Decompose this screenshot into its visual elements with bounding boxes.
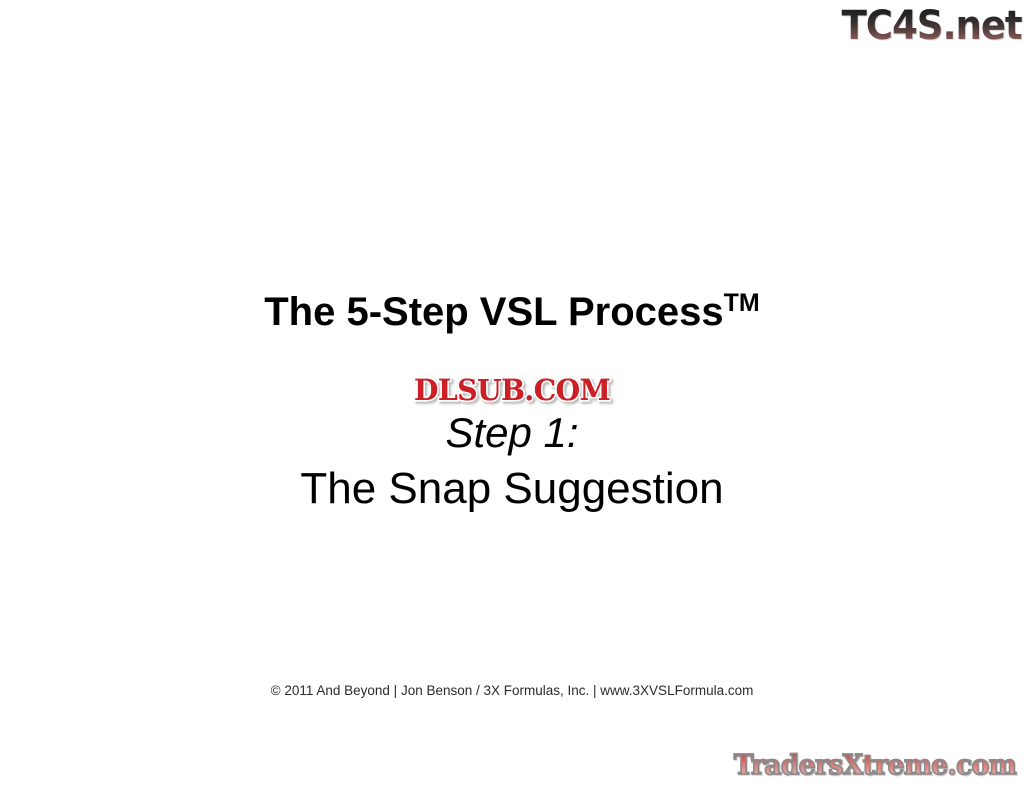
- trademark-symbol: TM: [724, 289, 760, 317]
- page-title-text: The 5-Step VSL Process: [264, 290, 723, 334]
- tradersxtreme-com-watermark: TradersXtreme.com: [706, 748, 1016, 784]
- subtitle-step-label: Step 1:: [0, 408, 1024, 458]
- presentation-slide: TC4S.net The 5-Step VSL ProcessTM Step 1…: [0, 0, 1024, 791]
- tradersxtreme-com-watermark-text: TradersXtreme.com: [734, 751, 1016, 781]
- footer-copyright: © 2011 And Beyond | Jon Benson / 3X Form…: [0, 682, 1024, 700]
- subtitle-step-name: The Snap Suggestion: [0, 462, 1024, 516]
- tc4s-net-logo: TC4S.net: [836, 2, 1022, 50]
- subtitle-block: Step 1: The Snap Suggestion: [0, 408, 1024, 516]
- page-title: The 5-Step VSL ProcessTM: [0, 280, 1024, 335]
- dlsub-com-watermark-text: DLSUB.COM: [414, 375, 610, 405]
- dlsub-com-watermark: DLSUB.COM: [366, 373, 658, 407]
- tc4s-net-logo-text: TC4S.net: [842, 6, 1022, 46]
